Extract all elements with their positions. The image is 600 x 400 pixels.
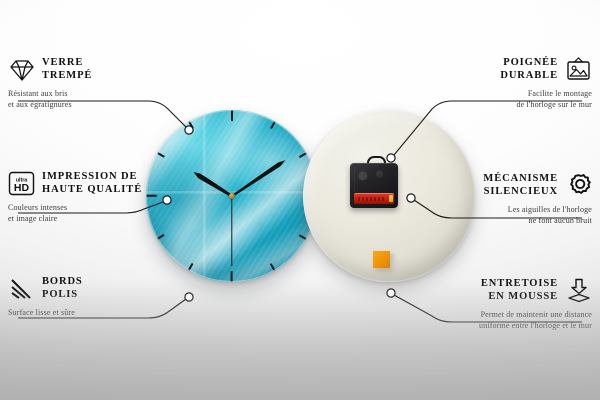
feature-description: Couleurs intenses et image claire: [8, 197, 180, 224]
desc-line-2: et image claire: [8, 214, 180, 225]
feature-title: BORDS POLIS: [42, 276, 180, 301]
hanging-picture-icon: [565, 56, 592, 83]
feature-title: ENTRETOISE EN MOUSSE: [420, 278, 558, 303]
gear-icon: [565, 172, 592, 199]
title-line-2: DURABLE: [420, 70, 558, 83]
mechanism-housing: [350, 163, 398, 208]
title-line-1: POIGNÉE: [420, 57, 558, 70]
feature-description: Facilite le montage de l'horloge sur le …: [420, 83, 592, 110]
foam-spacer: [373, 251, 390, 268]
title-line-2: POLIS: [42, 289, 180, 302]
title-line-2: SILENCIEUX: [420, 186, 558, 199]
feature-bords-polis: BORDS POLIS Surface lisse et sûre: [8, 275, 180, 319]
title-line-2: TREMPÉ: [42, 70, 180, 83]
desc-line-2: et aux égratignures: [8, 100, 180, 111]
desc-line-1: Surface lisse et sûre: [8, 308, 180, 319]
title-line-1: IMPRESSION DE: [42, 171, 180, 184]
foam-spacer-icon: [565, 277, 592, 304]
feature-title: MÉCANISME SILENCIEUX: [420, 173, 558, 198]
feature-title: POIGNÉE DURABLE: [420, 57, 558, 82]
diamond-icon: [8, 56, 35, 83]
title-line-1: VERRE: [42, 57, 180, 70]
title-line-2: EN MOUSSE: [420, 291, 558, 304]
feature-impression-haute-qualite: ultra HD IMPRESSION DE HAUTE QUALITÉ Cou…: [8, 170, 180, 224]
desc-line-1: Permet de maintenir une distance: [420, 310, 592, 321]
feature-description: Permet de maintenir une distance uniform…: [420, 304, 592, 331]
feature-verre-trempe: VERRE TREMPÉ Résistant aux bris et aux é…: [8, 56, 180, 110]
title-line-1: MÉCANISME: [420, 173, 558, 186]
title-line-1: ENTRETOISE: [420, 278, 558, 291]
feature-poignee-durable: POIGNÉE DURABLE Facilite le montage de l…: [420, 56, 592, 110]
infographic-canvas: VERRE TREMPÉ Résistant aux bris et aux é…: [0, 0, 600, 400]
feature-description: Surface lisse et sûre: [8, 302, 180, 319]
desc-line-2: uniforme entre l'horloge et le mur: [420, 321, 592, 332]
desc-line-1: Les aiguilles de l'horloge: [420, 205, 592, 216]
title-line-2: HAUTE QUALITÉ: [42, 184, 180, 197]
ultra-hd-icon: ultra HD: [8, 170, 35, 197]
feature-description: Les aiguilles de l'horloge ne font aucun…: [420, 199, 592, 226]
feature-description: Résistant aux bris et aux égratignures: [8, 83, 180, 110]
desc-line-2: de l'horloge sur le mur: [420, 100, 592, 111]
feature-entretoise-mousse: ENTRETOISE EN MOUSSE Permet de maintenir…: [420, 277, 592, 331]
desc-line-1: Couleurs intenses: [8, 203, 180, 214]
feature-mecanisme-silencieux: MÉCANISME SILENCIEUX Les aiguilles de l'…: [420, 172, 592, 226]
desc-line-1: Facilite le montage: [420, 89, 592, 100]
title-line-1: BORDS: [42, 276, 180, 289]
svg-text:HD: HD: [14, 182, 30, 194]
quartz-mechanism: [350, 163, 398, 208]
feature-title: IMPRESSION DE HAUTE QUALITÉ: [42, 171, 180, 196]
desc-line-1: Résistant aux bris: [8, 89, 180, 100]
desc-line-2: ne font aucun bruit: [420, 216, 592, 227]
feature-title: VERRE TREMPÉ: [42, 57, 180, 82]
battery: [354, 193, 394, 204]
polished-edges-icon: [8, 275, 35, 302]
